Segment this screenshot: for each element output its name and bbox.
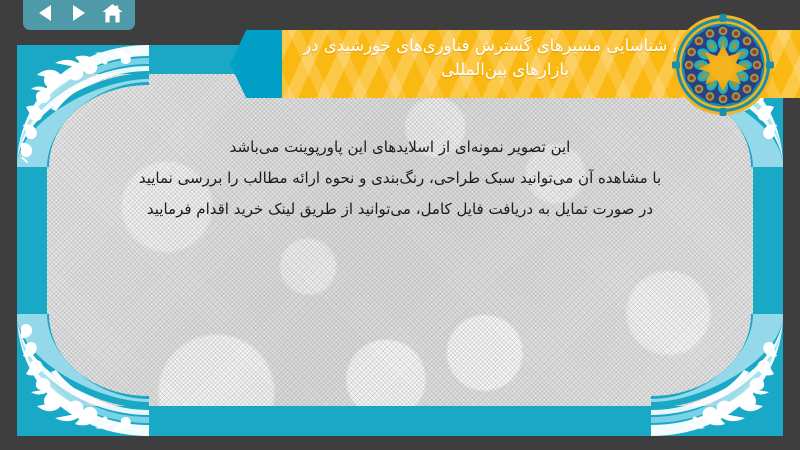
previous-slide-button[interactable] — [33, 1, 59, 25]
slide-content-panel — [47, 74, 753, 406]
persian-medallion-ornament-icon — [672, 14, 774, 116]
presentation-slide: کامل شناسایی مسیرهای گسترش فناوری‌های خو… — [0, 0, 800, 450]
home-icon — [102, 4, 123, 23]
triangle-right-icon — [70, 4, 87, 22]
triangle-left-icon — [37, 4, 54, 22]
body-line-1: این تصویر نمونه‌ای از اسلایدهای این پاور… — [60, 132, 740, 163]
home-button[interactable] — [99, 1, 125, 25]
slide-navigation-bar — [23, 0, 135, 30]
slide-body-text: این تصویر نمونه‌ای از اسلایدهای این پاور… — [60, 132, 740, 225]
banner-arrow-tail — [230, 30, 288, 98]
body-line-2: با مشاهده آن می‌توانید سبک طراحی، رنگ‌بن… — [60, 163, 740, 194]
next-slide-button[interactable] — [66, 1, 92, 25]
body-line-3: در صورت تمایل به دریافت فایل کامل، می‌تو… — [60, 194, 740, 225]
